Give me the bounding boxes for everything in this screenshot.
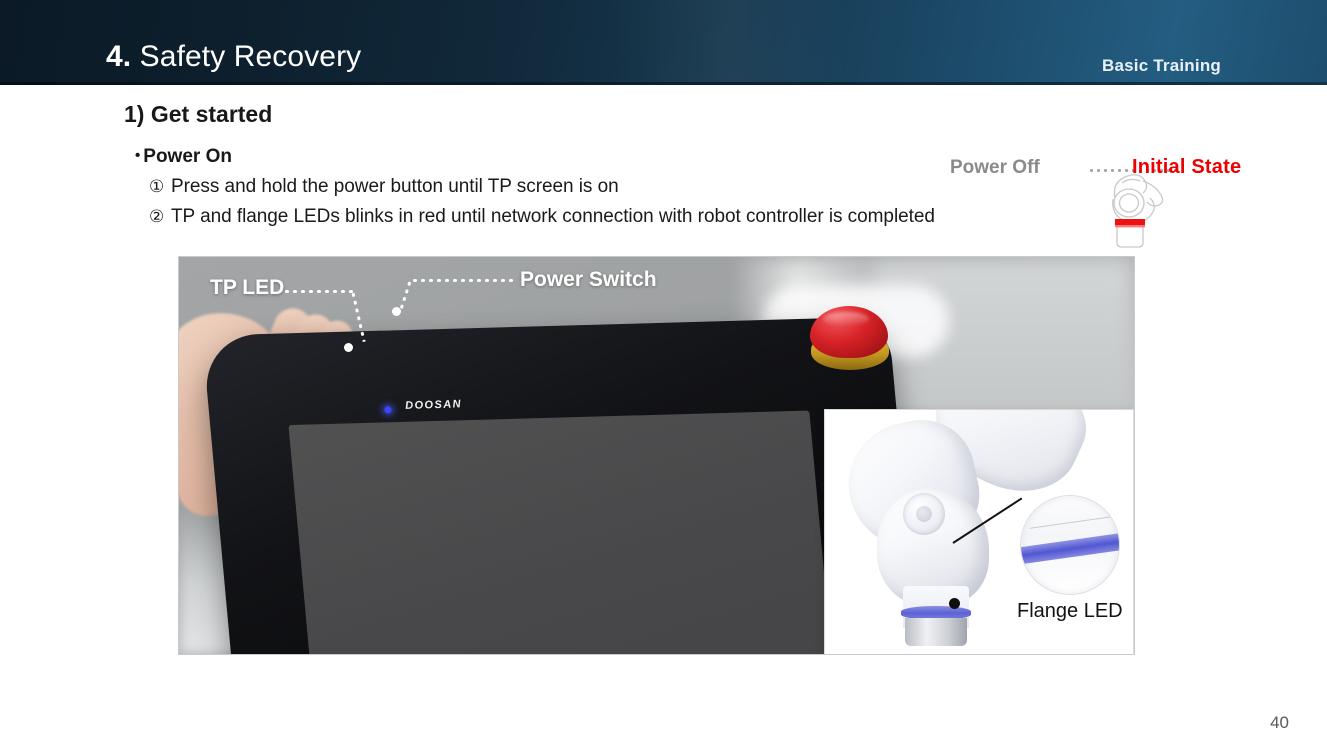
flange-led-label: Flange LED	[1017, 600, 1123, 623]
power-switch-leader-endpoint	[392, 307, 401, 316]
robot-joint-cap	[903, 493, 945, 535]
power-off-label: Power Off	[950, 157, 1040, 179]
page-title: 4. Safety Recovery	[106, 40, 361, 74]
flange-led-magnifier-bubble	[1021, 496, 1119, 594]
flange-led-inset-panel: Flange LED	[825, 410, 1133, 654]
section-heading: 1) Get started	[124, 101, 272, 128]
circled-number-1-icon: ①	[149, 177, 171, 197]
photo-label-tp-led: TP LED	[210, 276, 284, 300]
header-sheen-decor	[610, 0, 849, 85]
step-item-1: ①Press and hold the power button until T…	[149, 176, 619, 198]
bullet-power-on: •Power On	[135, 146, 232, 168]
flange-magnifier-led-band	[1021, 532, 1119, 565]
doosan-brand-logo: DOOSAN	[405, 398, 463, 412]
tp-led-leader-endpoint	[344, 343, 353, 352]
tp-led-dotted-connector	[283, 290, 353, 293]
photo-label-power-switch: Power Switch	[520, 268, 657, 292]
step-item-2: ②TP and flange LEDs blinks in red until …	[149, 206, 935, 228]
step-2-text: TP and flange LEDs blinks in red until n…	[171, 206, 935, 227]
initial-state-label: Initial State	[1132, 156, 1241, 179]
power-switch-dotted-connector	[411, 279, 515, 282]
emergency-stop-gloss	[823, 312, 869, 326]
step-1-text: Press and hold the power button until TP…	[171, 176, 619, 197]
bullet-power-on-label: Power On	[143, 146, 232, 167]
page-title-text: Safety Recovery	[140, 40, 362, 73]
slide-header-bar: 4. Safety Recovery Basic Training	[0, 0, 1327, 85]
tp-led-indicator	[384, 406, 392, 413]
page-number: 40	[1270, 713, 1289, 733]
robot-flange-metal-cuff	[905, 618, 967, 646]
power-switch-leader-line	[400, 280, 412, 309]
power-state-callout: Power Off Initial State	[944, 155, 1274, 255]
emergency-stop-button[interactable]	[807, 306, 893, 374]
teach-pendant-photo: DOOSAN TP LED Power Switch Flange LED	[179, 257, 1134, 654]
circled-number-2-icon: ②	[149, 207, 171, 227]
header-course-label: Basic Training	[1102, 56, 1221, 76]
page-title-number: 4.	[106, 40, 131, 73]
flange-magnifier-hairline	[1029, 516, 1112, 529]
teach-pendant-screen[interactable]	[288, 411, 843, 654]
flange-led-leader-endpoint	[949, 598, 960, 609]
